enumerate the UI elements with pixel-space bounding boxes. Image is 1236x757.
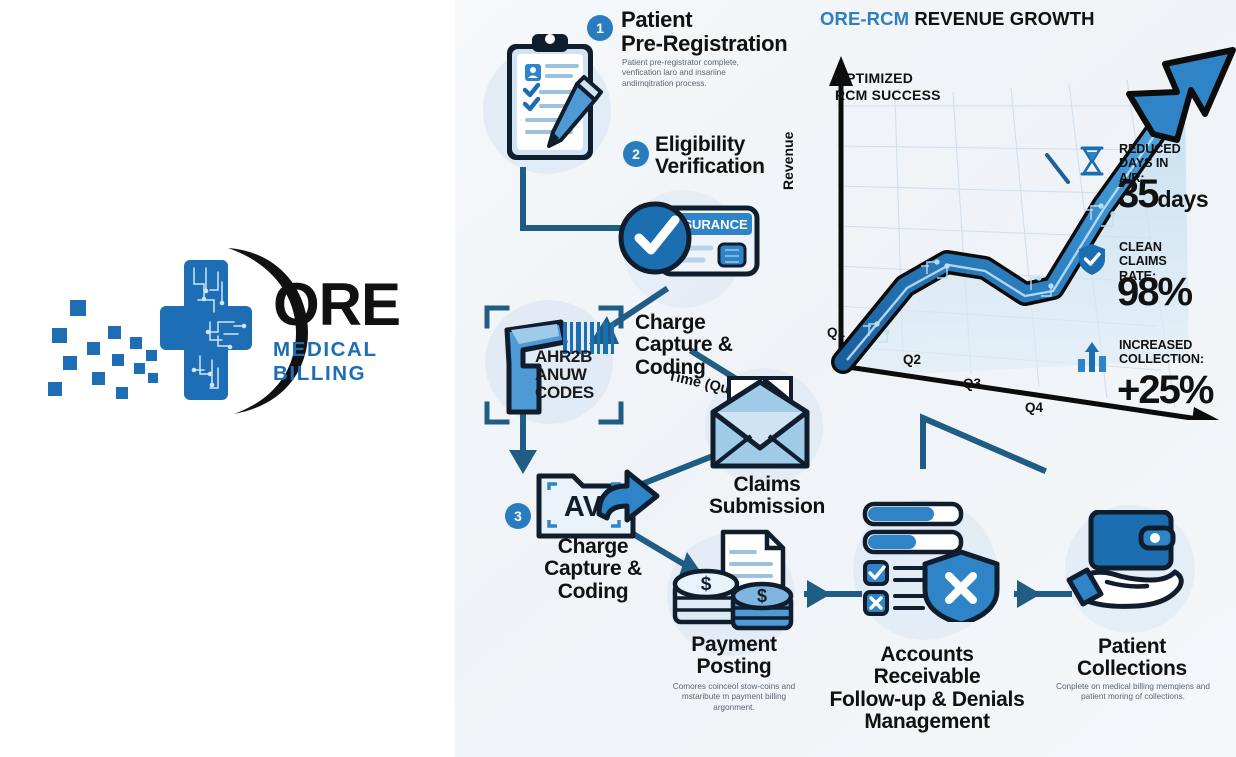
chart-callout: OPTIMIZED RCM SUCCESS — [835, 70, 941, 104]
chart-title-accent: ORE-RCM — [820, 8, 909, 29]
step-3-number: 3 — [505, 503, 531, 529]
coin-stack-left: $ — [675, 571, 737, 622]
payment-title-line1: Payment — [661, 634, 807, 656]
collections-title-line1: Patient — [1059, 636, 1205, 658]
stat-label-line1: REDUCED — [1119, 142, 1181, 156]
payment-posting-title: Payment Posting — [661, 634, 807, 679]
chart-title: ORE-RCM REVENUE GROWTH — [820, 8, 1095, 30]
step-3-title: Charge Capture & Coding — [537, 536, 649, 603]
chart-y-axis-label: Revenue — [780, 132, 796, 190]
logo-panel: ORE MEDICAL BILLING — [0, 0, 455, 757]
step-2-title: Eligibility Verification — [655, 134, 765, 179]
step-1-body: Patient pre-registrator complete, venfic… — [622, 58, 752, 89]
step-1-title-line1: Patient — [621, 8, 787, 32]
ar-title-line1: Accounts Receivable — [827, 644, 1027, 689]
collections-title-line2: Collections — [1059, 658, 1205, 680]
step-3-title-line3: Coding — [537, 581, 649, 603]
claims-title-line2: Submission — [707, 496, 827, 518]
barcode-code-text: AHR2B ANUW CODES — [535, 348, 594, 403]
code-line-3: CODES — [535, 384, 594, 402]
cc-title-line2: Capture & — [635, 334, 733, 356]
claims-title-line1: Claims — [707, 474, 827, 496]
step-2-title-line2: Verification — [655, 156, 765, 178]
chart-growth-arrowhead — [1129, 50, 1233, 140]
svg-text:$: $ — [757, 586, 767, 606]
payment-posting-body: Comores coinceol stow-coins and mstaribu… — [661, 682, 807, 713]
claims-submission-title: Claims Submission — [707, 474, 827, 519]
ore-logo: ORE MEDICAL BILLING — [30, 232, 430, 422]
callout-line-2: RCM SUCCESS — [835, 87, 941, 104]
svg-text:$: $ — [701, 574, 712, 595]
chart-title-rest: REVENUE GROWTH — [914, 8, 1094, 29]
step-1-title: Patient Pre-Registration — [621, 8, 787, 55]
step-2-number: 2 — [623, 141, 649, 167]
logo-brand: ORE — [273, 276, 430, 334]
stat-value: 98% — [1117, 270, 1191, 315]
accounts-receivable-title: Accounts Receivable Follow-up & Denials … — [827, 644, 1027, 734]
coin-stack-right: $ — [733, 584, 791, 628]
stat-value: +25% — [1117, 368, 1212, 413]
insurance-card-check-icon: INSURANCE — [615, 192, 765, 292]
step-3-title-line1: Charge — [537, 536, 649, 558]
infographic-root: ORE MEDICAL BILLING ORE-RCM REVENUE GROW… — [0, 0, 1236, 757]
logo-wordmark: ORE MEDICAL BILLING — [273, 276, 430, 386]
clipboard-pencil-icon — [491, 28, 611, 173]
folder-share-icon: AV — [533, 462, 663, 544]
step-2-title-line1: Eligibility — [655, 134, 765, 156]
patient-collections-body: Conplete on medical billing memqiens and… — [1053, 682, 1213, 703]
step-1-title-line2: Pre-Registration — [621, 32, 787, 56]
hourglass-icon — [1075, 144, 1109, 178]
coins-document-icon: $ $ — [663, 528, 811, 638]
shield-check-icon — [1075, 242, 1109, 276]
stat-label: INCREASED COLLECTION: — [1119, 338, 1204, 367]
code-line-1: AHR2B — [535, 348, 594, 366]
arrow-step1-to-step2 — [523, 170, 627, 228]
bar-chart-up-icon — [1075, 340, 1109, 374]
step-1-number: 1 — [587, 15, 613, 41]
logo-tagline: MEDICAL BILLING — [273, 338, 430, 386]
chart-x-tick-q4: Q4 — [1025, 400, 1043, 415]
chart-x-tick-q1: Q1 — [827, 325, 845, 340]
infographic-panel: ORE-RCM REVENUE GROWTH — [455, 0, 1236, 757]
callout-leader-line — [1047, 155, 1068, 182]
stat-label-line2: COLLECTION: — [1119, 352, 1204, 366]
code-line-2: ANUW — [535, 366, 594, 384]
chart-x-tick-q2: Q2 — [903, 352, 921, 367]
stat-value: 35days — [1117, 172, 1208, 217]
patient-collections-title: Patient Collections — [1059, 636, 1205, 681]
chart-x-tick-q3: Q3 — [963, 376, 981, 391]
folder-label: AV — [564, 491, 603, 523]
stat-label-line1: CLEAN CLAIMS — [1119, 240, 1167, 269]
medical-cross-circuit-icon — [160, 260, 252, 400]
stat-unit: days — [1158, 186, 1209, 212]
stat-number: +25% — [1117, 368, 1212, 412]
envelope-share-icon — [707, 370, 825, 480]
ar-title-line3: Management — [827, 711, 1027, 733]
stat-label-line1: INCREASED — [1119, 338, 1204, 352]
step-3-title-line2: Capture & — [537, 558, 649, 580]
wallet-hand-icon — [1063, 510, 1199, 628]
callout-line-1: OPTIMIZED — [835, 70, 941, 87]
ar-title-line2: Follow-up & Denials — [827, 689, 1027, 711]
arrowhead — [1017, 580, 1041, 608]
checklist-shield-x-icon — [851, 496, 1003, 622]
cc-title-line1: Charge — [635, 312, 733, 334]
stat-number: 35 — [1117, 172, 1158, 216]
arrow-claims-to-ar — [923, 418, 1043, 470]
stat-number: 98% — [1117, 270, 1191, 314]
payment-title-line2: Posting — [661, 656, 807, 678]
